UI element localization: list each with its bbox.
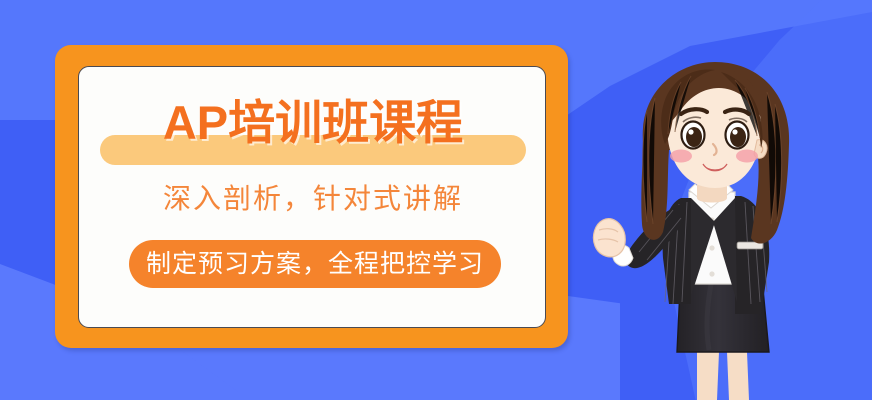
- tagline-pill: 制定预习方案，全程把控学习: [129, 240, 501, 288]
- subtitle-text: 深入剖析，针对式讲解: [79, 181, 546, 217]
- character-leg-left: [697, 352, 719, 400]
- tagline-text: 制定预习方案，全程把控学习: [146, 250, 484, 278]
- character-blush-right: [736, 150, 758, 163]
- character-hand: [593, 219, 625, 257]
- course-promo-banner: AP培训班课程 深入剖析，针对式讲解 制定预习方案，全程把控学习: [0, 0, 872, 400]
- page-title: AP培训班课程: [79, 89, 546, 157]
- teacher-character-illustration: [585, 52, 872, 400]
- character-blush-left: [670, 150, 692, 163]
- character-leg-right: [727, 352, 749, 400]
- promo-card-frame: AP培训班课程 深入剖析，针对式讲解 制定预习方案，全程把控学习: [55, 45, 568, 348]
- title-block: AP培训班课程: [79, 89, 546, 165]
- promo-card-panel: AP培训班课程 深入剖析，针对式讲解 制定预习方案，全程把控学习: [78, 66, 546, 328]
